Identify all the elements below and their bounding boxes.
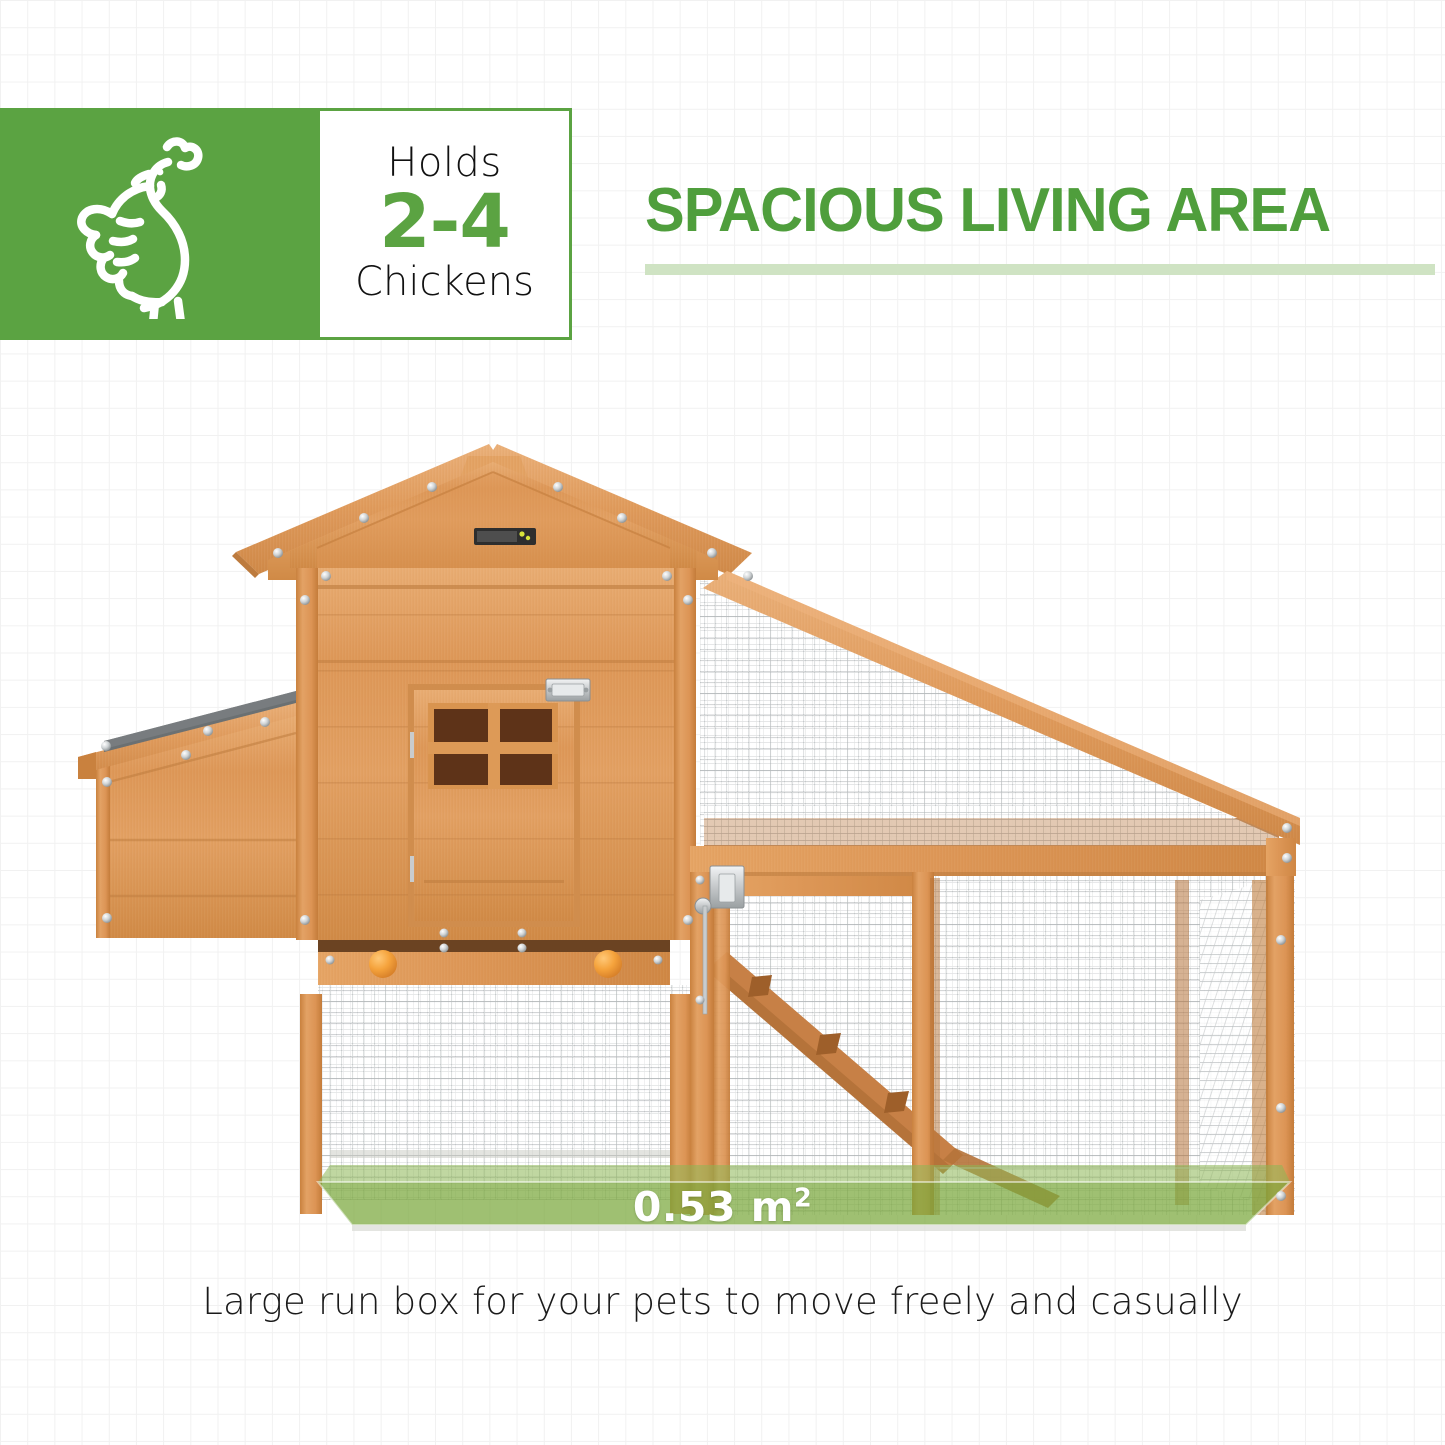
- headline-underline: [645, 264, 1435, 275]
- brand-plaque: [474, 528, 536, 545]
- floor-area-overlay: [318, 1165, 1290, 1225]
- headline-block: SPACIOUS LIVING AREA: [645, 180, 1440, 275]
- run-enclosure: [690, 838, 1296, 1215]
- badge-unit-label: Chickens: [355, 261, 534, 303]
- nesting-box: [78, 691, 296, 938]
- badge-holds-label: Holds: [387, 142, 501, 184]
- right-corner-post: [1266, 872, 1294, 1215]
- capacity-badge: Holds 2-4 Chickens: [0, 108, 572, 340]
- chicken-icon: [75, 129, 245, 319]
- tray-knob-left: [369, 950, 397, 978]
- coop-door: [408, 684, 580, 927]
- badge-text-panel: Holds 2-4 Chickens: [320, 108, 572, 340]
- badge-count-value: 2-4: [379, 185, 510, 259]
- badge-icon-panel: [0, 108, 320, 340]
- coop-door-latch: [546, 679, 590, 701]
- run-door-stile: [690, 872, 714, 1215]
- caption-text: Large run box for your pets to move free…: [0, 1280, 1445, 1323]
- tray-knob-right: [594, 950, 622, 978]
- page-title: SPACIOUS LIVING AREA: [645, 180, 1408, 242]
